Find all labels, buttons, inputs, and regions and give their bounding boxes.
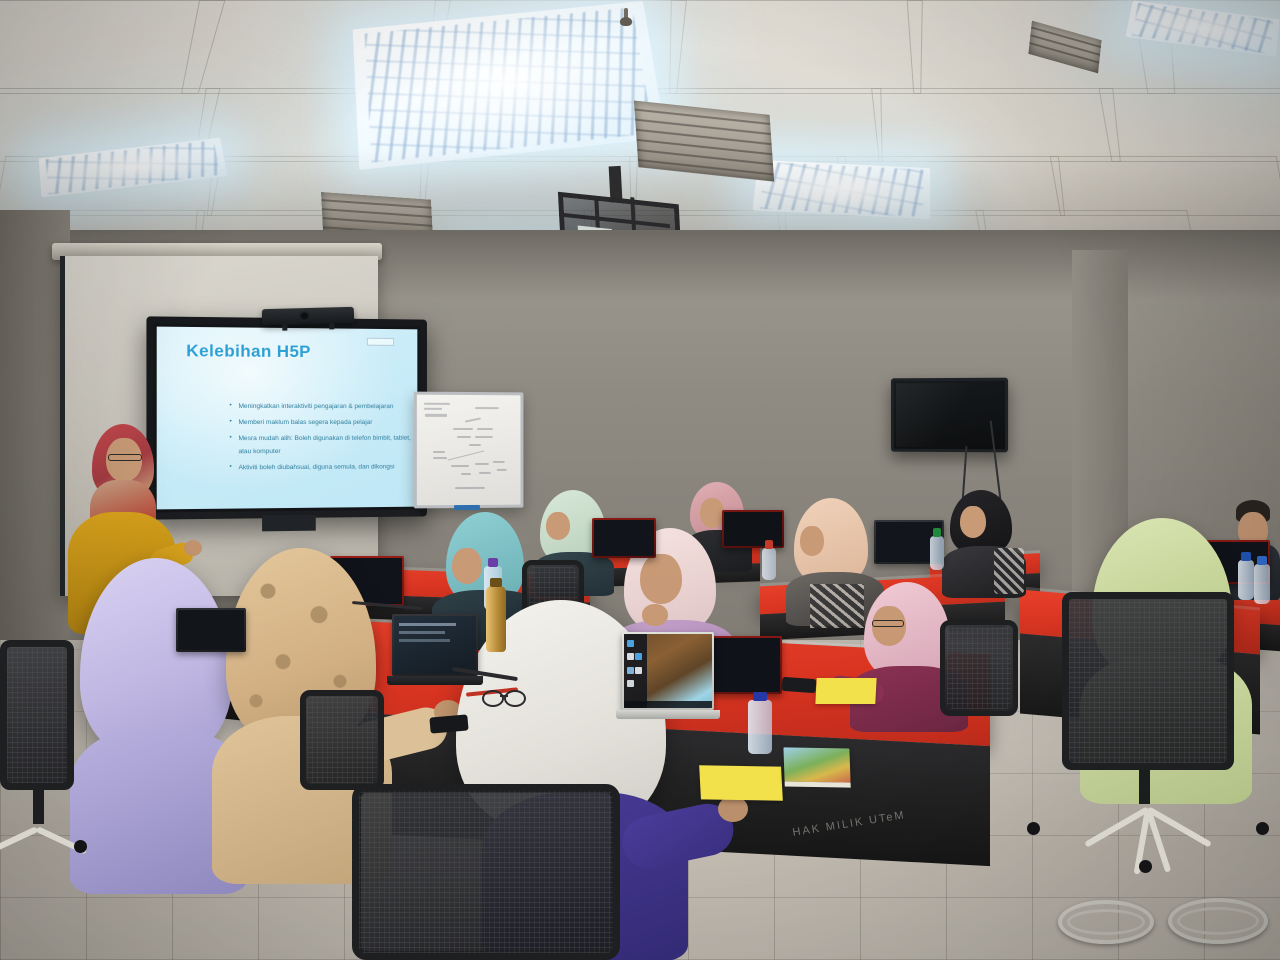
face — [800, 526, 824, 556]
office-chair[interactable] — [352, 784, 620, 960]
smartphone[interactable] — [782, 677, 817, 693]
face — [452, 548, 482, 584]
sprinkler-head — [620, 8, 632, 28]
whiteboard — [414, 392, 524, 509]
slide-bullet: Meningkatkan interaktiviti pengajaran & … — [229, 403, 404, 412]
face — [546, 512, 570, 540]
glasses — [872, 620, 904, 627]
eyeglasses[interactable] — [482, 690, 526, 704]
office-chair[interactable] — [1062, 592, 1234, 770]
office-chair[interactable] — [300, 690, 384, 790]
smartphone[interactable] — [429, 714, 468, 733]
office-chair[interactable] — [940, 620, 1018, 716]
slide-bullet: Mesra mudah alih: Boleh digunakan di tel… — [229, 435, 404, 457]
face — [640, 554, 682, 604]
book[interactable] — [783, 747, 850, 782]
laptop[interactable] — [176, 608, 246, 652]
face — [960, 506, 986, 538]
slide-title: Kelebihan H5P — [186, 341, 311, 362]
laptop[interactable] — [622, 632, 714, 710]
whiteboard-marker-tray — [454, 505, 480, 510]
glasses — [108, 454, 142, 461]
participant-black — [942, 490, 1024, 592]
camera-lens-icon — [299, 311, 310, 321]
presenter-hand — [184, 540, 202, 556]
cable-coil — [1168, 898, 1268, 944]
wall-tv[interactable] — [891, 378, 1008, 453]
slide-bullet: Aktiviti boleh diubahsuai, diguna semula… — [229, 463, 404, 473]
hijab — [80, 558, 232, 756]
video-conference-camera — [262, 307, 354, 325]
water-bottle[interactable] — [930, 536, 944, 570]
presentation-slide: Kelebihan H5P Meningkatkan interaktiviti… — [157, 327, 418, 510]
slide-bullet: Memberi maklum balas segera kepada pelaj… — [229, 419, 404, 428]
slide-bullet-list: Meningkatkan interaktiviti pengajaran & … — [189, 403, 405, 480]
yellow-notepad[interactable] — [815, 678, 876, 704]
laptop[interactable] — [722, 510, 784, 548]
face — [700, 498, 724, 528]
slide-control-chip — [367, 338, 394, 346]
gold-tumbler[interactable] — [486, 586, 506, 652]
training-room-photo: Kelebihan H5P Meningkatkan interaktiviti… — [0, 0, 1280, 960]
yellow-notepad[interactable] — [699, 765, 783, 801]
cable-coil — [1058, 900, 1154, 944]
laptop-screen — [624, 634, 712, 708]
office-chair[interactable] — [0, 640, 74, 790]
laptop[interactable] — [592, 518, 656, 558]
water-bottle[interactable] — [748, 700, 772, 754]
water-bottle[interactable] — [1254, 564, 1270, 604]
laptop[interactable] — [392, 614, 478, 676]
water-bottle[interactable] — [762, 548, 776, 580]
laptop[interactable] — [706, 636, 782, 694]
